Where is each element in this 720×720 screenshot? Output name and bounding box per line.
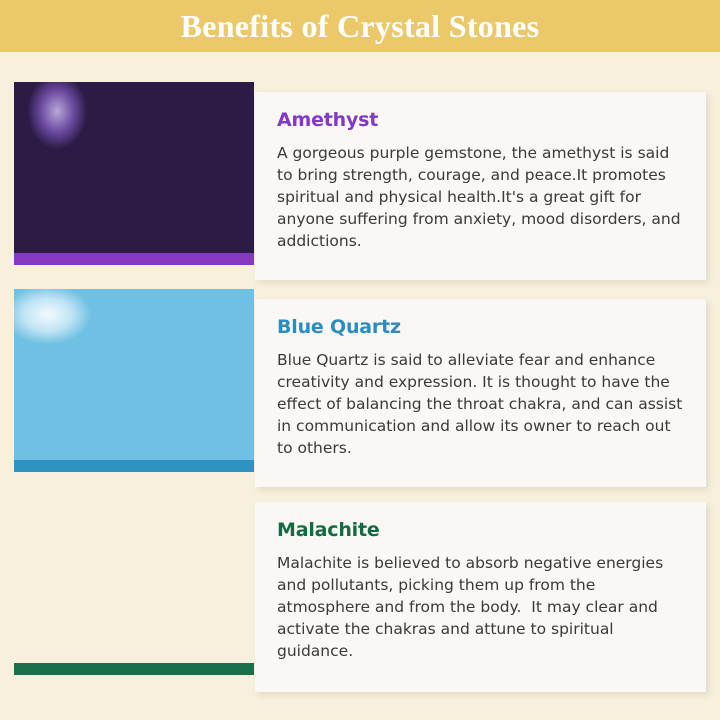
card-body-text: Malachite is believed to absorb negative… xyxy=(255,541,706,662)
page-title: Benefits of Crystal Stones xyxy=(181,10,540,42)
accent-bar xyxy=(14,253,254,265)
card-body-text: A gorgeous purple gemstone, the amethyst… xyxy=(255,131,706,252)
blue-quartz-crystal-photo xyxy=(14,289,254,472)
amethyst-crystal-photo xyxy=(14,82,254,265)
crystal-photo-block xyxy=(14,82,254,277)
header-banner: Benefits of Crystal Stones xyxy=(0,0,720,52)
accent-bar xyxy=(14,663,254,675)
card-body-text: Blue Quartz is said to alleviate fear an… xyxy=(255,338,706,459)
card-heading: Blue Quartz xyxy=(255,299,706,338)
crystal-card-malachite: Malachite Malachite is believed to absor… xyxy=(0,492,720,692)
crystal-text-card: Amethyst A gorgeous purple gemstone, the… xyxy=(255,92,706,280)
accent-bar xyxy=(14,460,254,472)
crystal-card-amethyst: Amethyst A gorgeous purple gemstone, the… xyxy=(0,82,720,282)
card-heading: Amethyst xyxy=(255,92,706,131)
crystal-photo-block xyxy=(14,492,254,687)
crystal-text-card: Blue Quartz Blue Quartz is said to allev… xyxy=(255,299,706,487)
malachite-crystal-photo xyxy=(14,492,254,675)
crystal-card-blue-quartz: Blue Quartz Blue Quartz is said to allev… xyxy=(0,289,720,489)
card-heading: Malachite xyxy=(255,502,706,541)
crystal-text-card: Malachite Malachite is believed to absor… xyxy=(255,502,706,692)
crystal-photo-block xyxy=(14,289,254,484)
